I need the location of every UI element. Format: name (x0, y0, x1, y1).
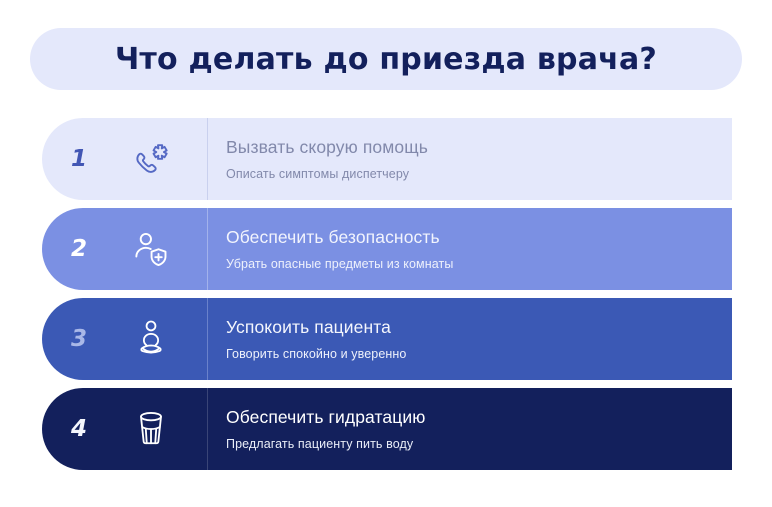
step-number: 4 (42, 418, 116, 441)
step-subtitle: Описать симптомы диспетчеру (226, 167, 732, 182)
step-body: Успокоить пациентаГоворить спокойно и ув… (208, 298, 732, 380)
step-left-block: 4 (42, 388, 207, 470)
step-row[interactable]: 2 Обеспечить безопасностьУбрать опасные … (42, 208, 732, 290)
water-glass-icon (116, 409, 186, 449)
person-shield-plus-icon (116, 230, 186, 268)
steps-list: 1 Вызвать скорую помощьОписать симптомы … (42, 118, 732, 478)
step-title: Обеспечить гидратацию (226, 407, 732, 428)
step-body: Обеспечить гидратациюПредлагать пациенту… (208, 388, 732, 470)
step-subtitle: Говорить спокойно и уверенно (226, 347, 732, 362)
step-left-block: 3 (42, 298, 207, 380)
step-row[interactable]: 4 Обеспечить гидратациюПредлагать пациен… (42, 388, 732, 470)
step-body: Обеспечить безопасностьУбрать опасные пр… (208, 208, 732, 290)
step-subtitle: Убрать опасные предметы из комнаты (226, 257, 732, 272)
step-left-block: 1 (42, 118, 207, 200)
page-title-banner: Что делать до приезда врача? (30, 28, 742, 90)
step-number: 2 (42, 238, 116, 261)
step-title: Вызвать скорую помощь (226, 137, 732, 158)
step-row[interactable]: 1 Вызвать скорую помощьОписать симптомы … (42, 118, 732, 200)
step-left-block: 2 (42, 208, 207, 290)
phone-medical-cross-icon (116, 140, 186, 178)
step-number: 3 (42, 328, 116, 351)
step-body: Вызвать скорую помощьОписать симптомы ди… (208, 118, 732, 200)
step-row[interactable]: 3 Успокоить пациентаГоворить спокойно и … (42, 298, 732, 380)
meditating-person-icon (116, 319, 186, 359)
step-number: 1 (42, 148, 116, 171)
page-title: Что делать до приезда врача? (115, 42, 657, 77)
step-title: Обеспечить безопасность (226, 227, 732, 248)
step-subtitle: Предлагать пациенту пить воду (226, 437, 732, 452)
step-title: Успокоить пациента (226, 317, 732, 338)
